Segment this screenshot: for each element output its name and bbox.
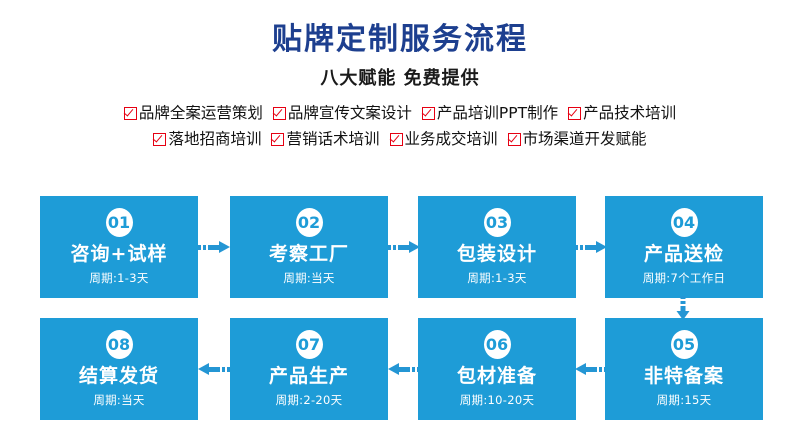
feature-item: 落地招商培训 (153, 126, 261, 152)
checkbox-checked-icon (508, 133, 521, 146)
feature-label: 市场渠道开发赋能 (523, 126, 647, 152)
arrow-right-icon (198, 240, 230, 254)
flow-step-05[interactable]: 05 非特备案 周期:15天 (605, 318, 763, 420)
step-title: 包装设计 (457, 242, 537, 266)
step-duration: 周期:15天 (657, 392, 712, 408)
checkbox-checked-icon (153, 133, 166, 146)
feature-row-1: 品牌全案运营策划 品牌宣传文案设计 产品培训PPT制作 产品技术培训 (0, 100, 800, 126)
step-duration: 周期:7个工作日 (643, 270, 726, 286)
feature-item: 产品技术培训 (568, 100, 676, 126)
step-title: 考察工厂 (269, 242, 349, 266)
step-number-badge: 06 (484, 330, 511, 359)
feature-item: 产品培训PPT制作 (422, 100, 558, 126)
page-title: 贴牌定制服务流程 (0, 0, 800, 60)
feature-row-2: 落地招商培训 营销话术培训 业务成交培训 市场渠道开发赋能 (0, 126, 800, 152)
step-title: 非特备案 (644, 364, 724, 388)
flow-step-01[interactable]: 01 咨询+试样 周期:1-3天 (40, 196, 198, 298)
feature-label: 品牌宣传文案设计 (288, 100, 412, 126)
feature-label: 落地招商培训 (168, 126, 261, 152)
step-number-badge: 04 (671, 208, 698, 237)
arrow-left-icon (388, 362, 420, 376)
arrow-left-icon (575, 362, 607, 376)
step-duration: 周期:1-3天 (467, 270, 526, 286)
arrow-down-icon (676, 296, 690, 320)
checkbox-checked-icon (124, 107, 137, 120)
step-number-badge: 05 (671, 330, 698, 359)
feature-item: 营销话术培训 (271, 126, 379, 152)
checkbox-checked-icon (273, 107, 286, 120)
arrow-left-icon (198, 362, 230, 376)
flow-step-06[interactable]: 06 包材准备 周期:10-20天 (418, 318, 576, 420)
step-duration: 周期:10-20天 (460, 392, 535, 408)
feature-label: 品牌全案运营策划 (139, 100, 263, 126)
feature-item: 品牌宣传文案设计 (273, 100, 412, 126)
page-subtitle: 八大赋能 免费提供 (0, 60, 800, 92)
step-duration: 周期:2-20天 (276, 392, 343, 408)
checkbox-checked-icon (422, 107, 435, 120)
step-number-badge: 01 (106, 208, 133, 237)
feature-label: 产品培训PPT制作 (437, 100, 558, 126)
step-title: 咨询+试样 (71, 242, 168, 266)
feature-list: 品牌全案运营策划 品牌宣传文案设计 产品培训PPT制作 产品技术培训 落地招商培… (0, 92, 800, 152)
flow-step-04[interactable]: 04 产品送检 周期:7个工作日 (605, 196, 763, 298)
flow-step-03[interactable]: 03 包装设计 周期:1-3天 (418, 196, 576, 298)
step-title: 包材准备 (457, 364, 537, 388)
flow-step-07[interactable]: 07 产品生产 周期:2-20天 (230, 318, 388, 420)
checkbox-checked-icon (568, 107, 581, 120)
feature-label: 营销话术培训 (286, 126, 379, 152)
flow-step-08[interactable]: 08 结算发货 周期:当天 (40, 318, 198, 420)
flow-row-top: 01 咨询+试样 周期:1-3天 02 考察工厂 周期:当天 (0, 196, 800, 298)
step-duration: 周期:1-3天 (89, 270, 148, 286)
step-number-badge: 07 (296, 330, 323, 359)
flow-row-bottom: 08 结算发货 周期:当天 07 产品生产 周期:2-20天 (0, 318, 800, 420)
checkbox-checked-icon (390, 133, 403, 146)
feature-label: 业务成交培训 (405, 126, 498, 152)
flow-step-02[interactable]: 02 考察工厂 周期:当天 (230, 196, 388, 298)
checkbox-checked-icon (271, 133, 284, 146)
arrow-right-icon (575, 240, 607, 254)
feature-item: 市场渠道开发赋能 (508, 126, 647, 152)
process-flowchart: 01 咨询+试样 周期:1-3天 02 考察工厂 周期:当天 (0, 186, 800, 436)
step-title: 结算发货 (79, 364, 159, 388)
feature-item: 业务成交培训 (390, 126, 498, 152)
arrow-right-icon (388, 240, 420, 254)
step-duration: 周期:当天 (93, 392, 144, 408)
feature-label: 产品技术培训 (583, 100, 676, 126)
step-title: 产品生产 (269, 364, 349, 388)
step-duration: 周期:当天 (283, 270, 334, 286)
step-number-badge: 03 (484, 208, 511, 237)
step-number-badge: 08 (106, 330, 133, 359)
step-number-badge: 02 (296, 208, 323, 237)
step-title: 产品送检 (644, 242, 724, 266)
feature-item: 品牌全案运营策划 (124, 100, 263, 126)
